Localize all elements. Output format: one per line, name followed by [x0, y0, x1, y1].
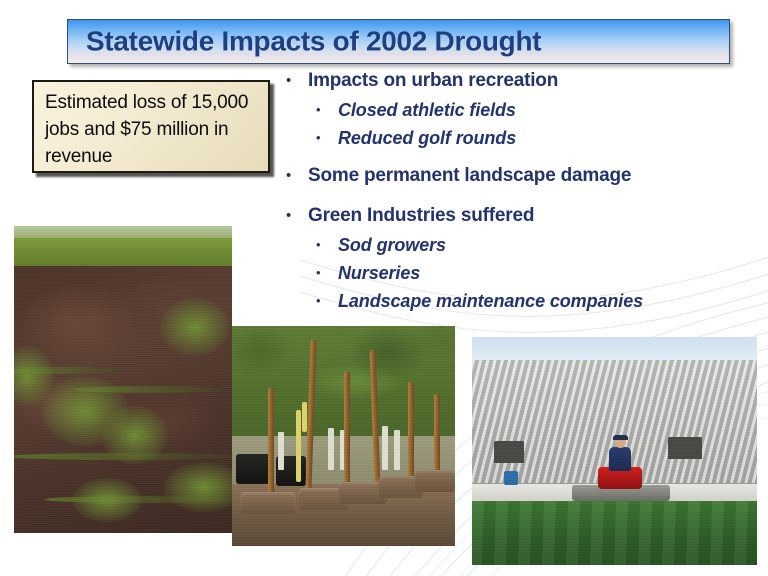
nursery-tree-trunk — [408, 382, 414, 488]
bullet-level1: • Green Industries suffered — [286, 201, 766, 230]
bullet-text: Green Industries suffered — [308, 201, 534, 230]
bullet-text: Sod growers — [338, 231, 446, 259]
bullet-marker-icon: • — [316, 287, 338, 315]
stadium-turf — [472, 501, 757, 565]
nursery-white-post — [394, 430, 400, 470]
bullet-level1: • Some permanent landscape damage — [286, 161, 766, 190]
bullet-marker-icon: • — [316, 96, 338, 124]
bullet-level1: • Impacts on urban recreation — [286, 66, 766, 95]
bullet-marker-icon: • — [316, 124, 338, 152]
mower-operator-cap — [613, 435, 628, 440]
sod-grass-tuft — [72, 478, 142, 522]
bullet-spacer — [286, 191, 766, 201]
nursery-yellow-tie — [296, 410, 301, 482]
nursery-yellow-tie — [302, 402, 307, 432]
nursery-white-post — [382, 426, 388, 470]
stadium-mower-photo — [472, 337, 757, 565]
bullet-marker-icon: • — [316, 231, 338, 259]
nursery-white-post — [278, 432, 284, 470]
bullet-marker-icon: • — [316, 259, 338, 287]
sod-rolls-photo — [14, 226, 232, 533]
bullet-text: Nurseries — [338, 259, 420, 287]
page-title: Statewide Impacts of 2002 Drought — [86, 25, 541, 57]
nursery-tree-trunk — [344, 372, 350, 494]
bullet-text: Closed athletic fields — [338, 96, 516, 124]
callout-text: Estimated loss of 15,000 jobs and $75 mi… — [45, 89, 258, 170]
callout-box: Estimated loss of 15,000 jobs and $75 mi… — [32, 80, 270, 173]
bullet-marker-icon: • — [286, 201, 308, 230]
bullet-level2: • Reduced golf rounds — [316, 124, 766, 152]
nursery-root-ball — [414, 470, 455, 492]
bullet-text: Reduced golf rounds — [338, 124, 516, 152]
nursery-trees-photo — [232, 326, 455, 546]
bullet-level2: • Closed athletic fields — [316, 96, 766, 124]
slide-canvas: Statewide Impacts of 2002 Drought Estima… — [0, 0, 768, 576]
bullet-text: Landscape maintenance companies — [338, 287, 643, 315]
mower-operator-torso — [609, 447, 631, 471]
bullet-text: Impacts on urban recreation — [308, 66, 558, 95]
bullet-level2: • Nurseries — [316, 259, 766, 287]
stadium-blue-bin — [504, 471, 518, 485]
sod-grass-tuft — [160, 298, 230, 356]
bullet-marker-icon: • — [286, 66, 308, 95]
bullet-level2: • Sod growers — [316, 231, 766, 259]
nursery-tree-trunk — [268, 388, 274, 500]
nursery-root-ball — [240, 492, 296, 514]
stadium-tunnel-entrance — [494, 441, 524, 463]
nursery-white-post — [328, 428, 334, 470]
title-banner: Statewide Impacts of 2002 Drought — [67, 19, 730, 64]
stadium-tunnel-entrance — [668, 437, 702, 459]
bullet-spacer — [286, 152, 766, 161]
bullet-list: • Impacts on urban recreation • Closed a… — [286, 66, 766, 315]
sod-grass-tuft — [102, 406, 168, 464]
bullet-level2: • Landscape maintenance companies — [316, 287, 766, 315]
nursery-black-pot — [236, 454, 270, 484]
bullet-text: Some permanent landscape damage — [308, 161, 631, 190]
bullet-marker-icon: • — [286, 161, 308, 190]
